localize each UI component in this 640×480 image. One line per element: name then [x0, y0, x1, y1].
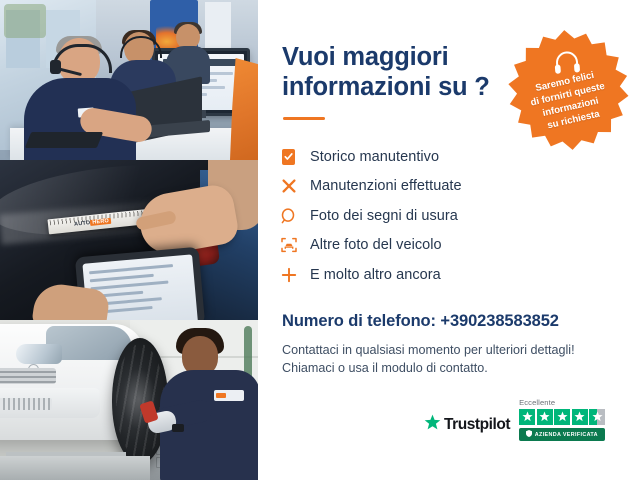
inspection-ruler-photo: AUTOHERO — [0, 160, 258, 320]
trustpilot-wordmark: Trustpilot — [444, 416, 510, 434]
mechanic — [158, 328, 258, 480]
desk-tablet — [25, 132, 103, 148]
call-center-photo — [0, 0, 258, 160]
page-title: Vuoi maggiori informazioni su ? — [282, 42, 532, 102]
list-item: Altre foto del veicolo — [280, 231, 580, 261]
list-item-label: Manutenzioni effettuate — [310, 178, 462, 194]
vehicle-lift-platform — [0, 456, 150, 480]
trustpilot-rating: Eccellente — [519, 398, 605, 441]
promo-banner: AUTOHERO — [0, 0, 640, 480]
star-filled — [519, 409, 535, 425]
headline-line-2: informazioni su ? — [282, 72, 532, 102]
trustpilot-star-icon — [424, 414, 441, 436]
trustpilot-widget[interactable]: Trustpilot Eccellente — [424, 398, 605, 441]
star-half — [589, 409, 605, 425]
list-item: Foto dei segni di usura — [280, 201, 580, 231]
status-badge: AZIENDA VERIFICATA — [519, 428, 605, 441]
photo-frame-car-icon — [280, 236, 310, 254]
verified-label: AZIENDA VERIFICATA — [535, 432, 598, 438]
star-filled — [572, 409, 588, 425]
headline-line-1: Vuoi maggiori — [282, 42, 532, 72]
contact-line-1: Contattaci in qualsiasi momento per ulte… — [282, 341, 612, 359]
status-badge: Saremo felici di fornirti queste informa… — [500, 23, 638, 160]
list-item-label: Foto dei segni di usura — [310, 208, 458, 224]
outdoor-greenery — [4, 4, 46, 38]
uniform-logo — [214, 390, 244, 401]
phone-number[interactable]: Numero di telefono: +390238583852 — [282, 312, 559, 331]
tablet-line — [90, 281, 168, 291]
tablet-line — [89, 264, 173, 274]
workshop-lift-photo — [0, 320, 258, 480]
star-rating — [519, 409, 605, 425]
content-panel: Vuoi maggiori informazioni su ? Storico … — [258, 0, 640, 480]
list-item-label: Altre foto del veicolo — [310, 237, 442, 253]
contact-line-2: Chiamaci o usa il modulo di contatto. — [282, 359, 612, 377]
bumper-vent — [0, 398, 52, 410]
tools-cross-icon — [280, 177, 310, 195]
list-item-label: E molto altro ancora — [310, 267, 441, 283]
photo-strip: AUTOHERO — [0, 0, 258, 480]
star-filled — [554, 409, 570, 425]
document-check-icon — [280, 148, 310, 166]
plus-icon — [280, 266, 310, 284]
shield-check-icon — [526, 430, 532, 439]
list-item: Manutenzioni effettuate — [280, 172, 580, 202]
headlight — [16, 344, 62, 364]
contact-text: Contattaci in qualsiasi momento per ulte… — [282, 341, 612, 378]
list-item-label: Storico manutentivo — [310, 149, 439, 165]
rating-label: Eccellente — [519, 398, 555, 407]
front-grille — [0, 368, 56, 384]
trustpilot-brand[interactable]: Trustpilot — [424, 414, 510, 441]
tablet-line — [90, 274, 154, 283]
list-item: E molto altro ancora — [280, 260, 580, 290]
feature-list: Storico manutentivo Manutenzioni effettu… — [280, 142, 580, 290]
wristwatch — [172, 424, 184, 432]
star-filled — [537, 409, 553, 425]
magnifier-icon — [280, 207, 310, 225]
title-divider — [283, 117, 325, 120]
